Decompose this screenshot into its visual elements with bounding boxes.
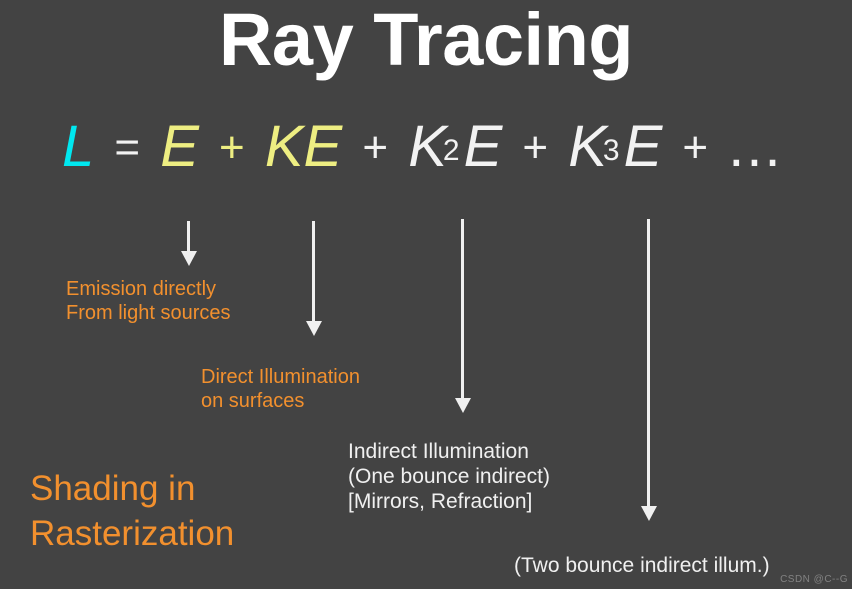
rendering-equation: L = E + KE + K2E + K3E + ... <box>62 118 783 176</box>
callout-line-2: Rasterization <box>30 511 234 556</box>
arrow-shaft <box>187 221 190 251</box>
page-title: Ray Tracing <box>0 2 852 79</box>
equation-term-L: L <box>62 118 94 176</box>
equation-plus-4: + <box>678 126 712 170</box>
equation-term-E2: E <box>464 118 503 176</box>
arrow-shaft <box>461 219 464 398</box>
arrow-head <box>455 398 471 413</box>
arrow-emission <box>181 221 197 266</box>
equation-exponent-2: 2 <box>443 136 460 166</box>
equation-plus-3: + <box>518 126 552 170</box>
arrow-two-bounce-indirect <box>641 219 657 521</box>
annotation-indirect-line-3: [Mirrors, Refraction] <box>348 489 550 514</box>
callout-line-1: Shading in <box>30 466 234 511</box>
equation-term-K2: K <box>408 118 447 176</box>
equation-term-KE: KE <box>265 118 342 176</box>
equation-plus-1: + <box>215 126 249 170</box>
annotation-indirect-illumination: Indirect Illumination (One bounce indire… <box>348 439 550 514</box>
arrow-head <box>641 506 657 521</box>
annotation-emission-line-1: Emission directly <box>66 277 231 301</box>
annotation-two-bounce-indirect: (Two bounce indirect illum.) <box>514 553 770 578</box>
arrow-shaft <box>647 219 650 506</box>
slide-canvas: Ray Tracing L = E + KE + K2E + K3E + ...… <box>0 0 852 589</box>
arrow-shaft <box>312 221 315 321</box>
annotation-two-bounce-line-1: (Two bounce indirect illum.) <box>514 553 770 578</box>
annotation-indirect-line-2: (One bounce indirect) <box>348 464 550 489</box>
arrow-head <box>181 251 197 266</box>
csdn-watermark: CSDN @C--G <box>780 574 848 585</box>
equation-exponent-3: 3 <box>603 136 620 166</box>
annotation-direct-line-2: on surfaces <box>201 389 360 413</box>
annotation-emission-line-2: From light sources <box>66 301 231 325</box>
arrow-indirect-illumination <box>455 219 471 413</box>
equation-term-E3: E <box>624 118 663 176</box>
equation-ellipsis: ... <box>728 118 782 176</box>
annotation-direct-illumination: Direct Illumination on surfaces <box>201 365 360 413</box>
equation-plus-2: + <box>358 126 392 170</box>
equation-equals: = <box>110 126 144 170</box>
equation-term-K3: K <box>568 118 607 176</box>
arrow-direct-illumination <box>306 221 322 336</box>
annotation-emission: Emission directly From light sources <box>66 277 231 325</box>
equation-term-E1: E <box>160 118 199 176</box>
annotation-direct-line-1: Direct Illumination <box>201 365 360 389</box>
annotation-indirect-line-1: Indirect Illumination <box>348 439 550 464</box>
arrow-head <box>306 321 322 336</box>
callout-shading-in-rasterization: Shading in Rasterization <box>30 466 234 556</box>
